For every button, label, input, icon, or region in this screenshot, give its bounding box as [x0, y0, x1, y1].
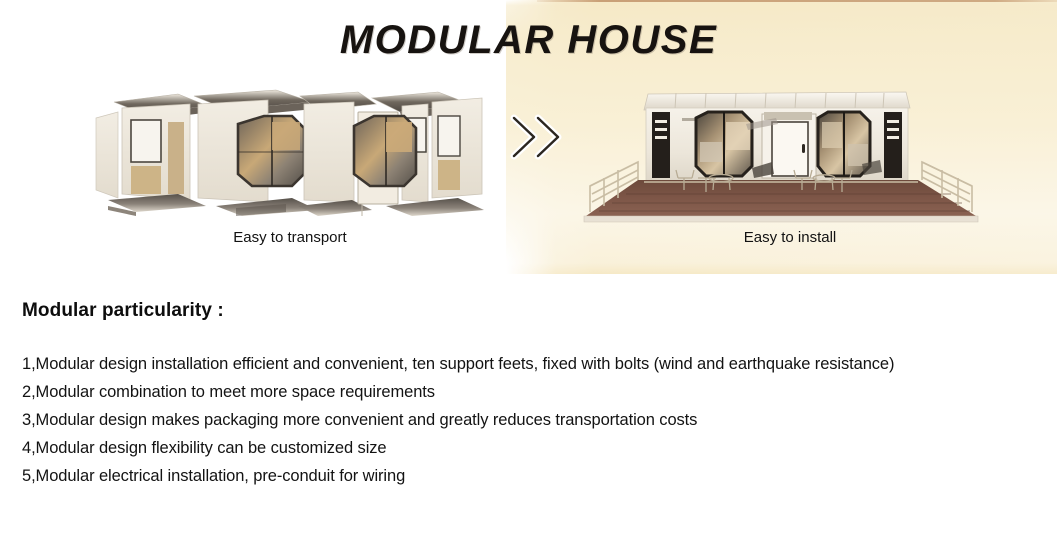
features-list: 1,Modular design installation efficient … — [22, 350, 1052, 490]
list-item: 1,Modular design installation efficient … — [22, 350, 1052, 378]
panel-top-rule — [537, 0, 1057, 2]
assembled-house-illustration — [566, 82, 996, 227]
list-item: 4,Modular design flexibility can be cust… — [22, 434, 1052, 462]
caption-easy-to-transport: Easy to transport — [160, 229, 420, 246]
caption-easy-to-install: Easy to install — [660, 229, 920, 246]
hero-banner: MODULAR HOUSE — [0, 0, 1057, 276]
list-item: 3,Modular design makes packaging more co… — [22, 406, 1052, 434]
features-heading: Modular particularity : — [22, 300, 1052, 322]
double-chevron-right-icon — [508, 112, 570, 162]
list-item: 2,Modular combination to meet more space… — [22, 378, 1052, 406]
page-title: MODULAR HOUSE — [0, 18, 1057, 63]
list-item: 5,Modular electrical installation, pre-c… — [22, 462, 1052, 490]
folded-modules-illustration — [86, 82, 486, 222]
features-section: Modular particularity : 1,Modular design… — [22, 300, 1052, 490]
